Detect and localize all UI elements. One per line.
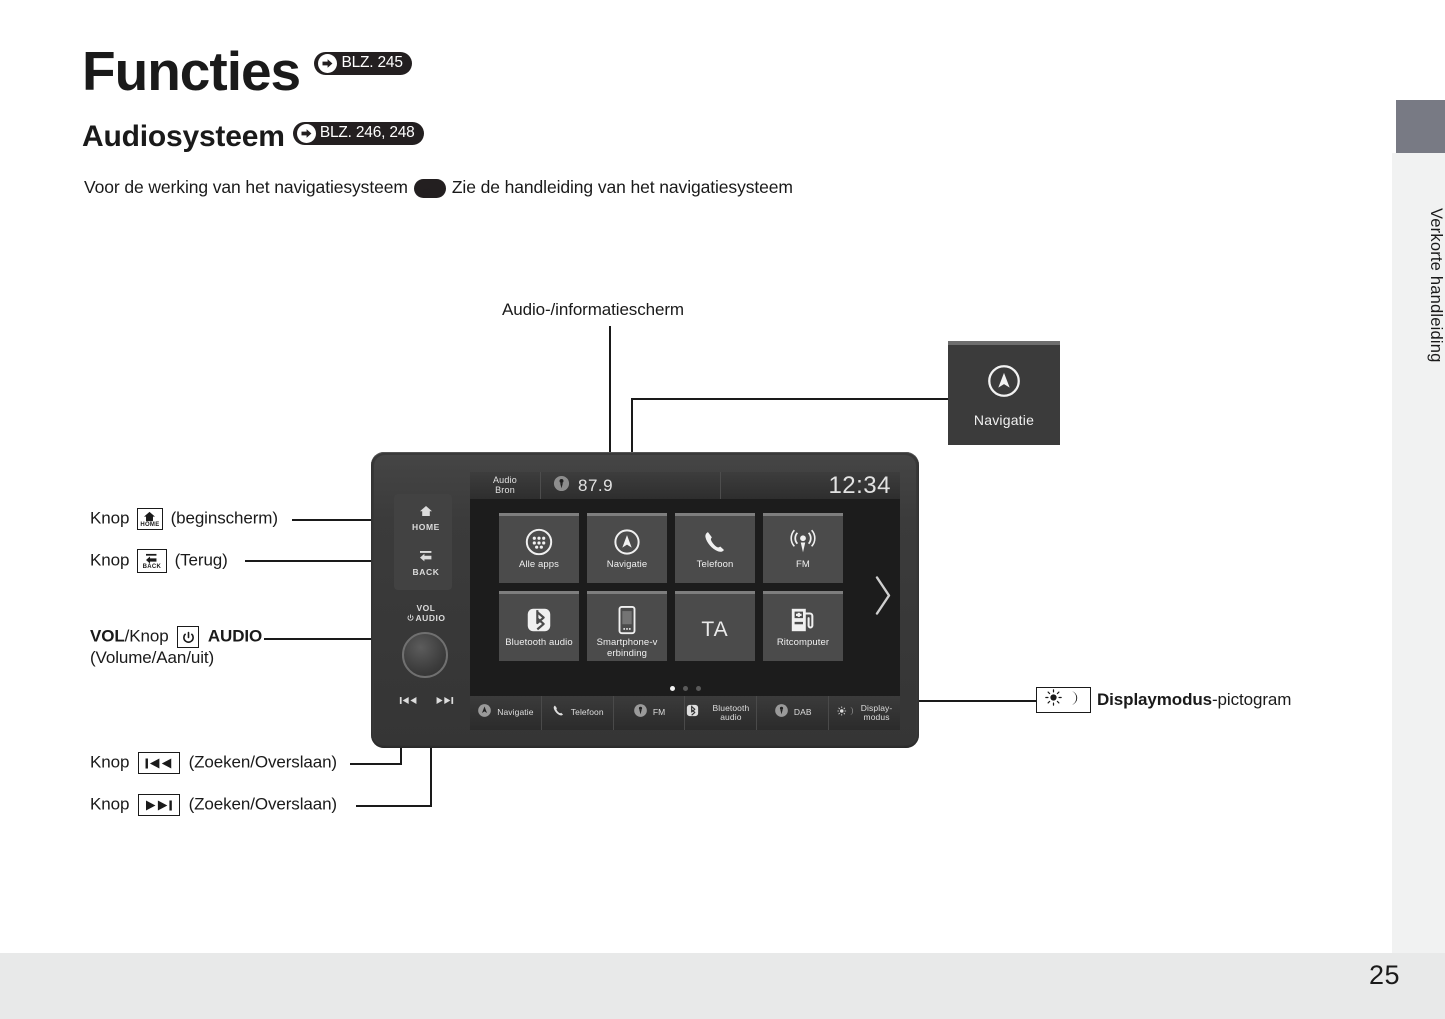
callout-next-suffix: (Zoeken/Overslaan) xyxy=(189,794,337,813)
sun-moon-icon xyxy=(837,704,856,722)
callout-vol-sub: (Volume/Aan/uit) xyxy=(90,648,214,668)
callout-displaymode-bold: Displaymodus xyxy=(1097,690,1212,709)
tile-label: Alle apps xyxy=(517,560,561,571)
phone-handset-icon xyxy=(551,703,566,723)
tile-label: FM xyxy=(794,560,812,571)
bottombar-label: Display- modus xyxy=(861,704,893,723)
home-tile-area: Alle apps Navigatie xyxy=(470,499,900,696)
page-dot-1[interactable] xyxy=(670,686,675,691)
fm-antenna-icon xyxy=(774,703,789,723)
arrow-right-icon xyxy=(318,54,337,73)
tile-label: Bluetooth audio xyxy=(503,638,575,649)
hardware-button-column: HOME BACK VOL xyxy=(390,464,462,736)
callout-vol-bold: VOL xyxy=(90,626,125,645)
bottombar-label: Bluetooth audio xyxy=(705,704,756,723)
bottombar-label: FM xyxy=(653,708,665,717)
page-indicator-dots xyxy=(470,686,900,691)
bottombar-bluetooth-audio[interactable]: Bluetooth audio xyxy=(685,696,757,730)
callout-prev-suffix: (Zoeken/Overslaan) xyxy=(189,752,337,771)
next-page-chevron-icon[interactable] xyxy=(872,571,894,624)
callout-displaymode: Displaymodus-pictogram xyxy=(1097,690,1291,710)
tile-ta[interactable]: TA xyxy=(675,591,755,661)
callout-back-suffix: (Terug) xyxy=(175,550,228,569)
page-dot-3[interactable] xyxy=(696,686,701,691)
frequency-display: 87.9 xyxy=(541,475,613,497)
clock: 12:34 xyxy=(828,472,900,500)
tile-label: Ritcomputer xyxy=(775,638,831,649)
tile-telefoon[interactable]: Telefoon xyxy=(675,513,755,583)
bottombar-displaymodus[interactable]: Display- modus xyxy=(829,696,900,730)
callout-vol-audio: VOL/Knop AUDIO xyxy=(90,626,262,648)
intro-text-before: Voor de werking van het navigatiesysteem xyxy=(84,177,408,198)
skip-next-button[interactable] xyxy=(435,692,454,710)
skip-button-row xyxy=(390,692,462,710)
intro-line: Voor de werking van het navigatiesysteem… xyxy=(84,177,793,198)
bottombar-telefoon[interactable]: Telefoon xyxy=(542,696,614,730)
fm-antenna-icon xyxy=(788,524,818,560)
skip-previous-icon xyxy=(138,752,180,774)
home-key-caption: HOME xyxy=(140,522,159,528)
tile-navigatie[interactable]: Navigatie xyxy=(587,513,667,583)
page-reference-badge[interactable]: BLZ. 245 xyxy=(314,52,411,75)
screen-bottom-bar: Navigatie Telefoon xyxy=(470,696,900,730)
bottombar-label: DAB xyxy=(794,708,812,717)
volume-knob[interactable] xyxy=(402,632,448,678)
callout-audio-bold: AUDIO xyxy=(208,626,262,645)
arrow-right-icon xyxy=(297,124,316,143)
bottombar-navigatie[interactable]: Navigatie xyxy=(470,696,542,730)
tile-fm[interactable]: FM xyxy=(763,513,843,583)
status-bar: Audio Bron 87.9 xyxy=(470,472,900,499)
navigation-compass-icon xyxy=(612,524,642,560)
navigation-compass-icon xyxy=(985,362,1023,405)
callout-home: Knop HOME (beginscherm) xyxy=(90,508,278,530)
fm-antenna-icon xyxy=(633,703,648,723)
moon-icon xyxy=(1067,690,1082,711)
navigatie-zoom-label: Navigatie xyxy=(974,412,1034,428)
bottombar-label: Telefoon xyxy=(571,708,604,717)
side-tab-block xyxy=(1396,100,1445,153)
callout-next: Knop (Zoeken/Overslaan) xyxy=(90,794,337,816)
app-tile-grid: Alle apps Navigatie xyxy=(499,513,843,661)
back-key-icon: BACK xyxy=(137,549,167,573)
navigatie-zoom-callout[interactable]: Navigatie xyxy=(948,341,1060,445)
smartphone-icon xyxy=(616,602,638,638)
back-icon xyxy=(418,549,434,566)
tile-smartphone-verbinding[interactable]: Smartphone-v erbinding xyxy=(587,591,667,661)
callout-home-suffix: (beginscherm) xyxy=(171,508,278,527)
bottombar-fm[interactable]: FM xyxy=(614,696,686,730)
home-icon xyxy=(419,504,433,521)
volume-knob-caption-line2: AUDIO xyxy=(416,614,446,624)
fuel-pump-icon xyxy=(789,602,817,638)
bluetooth-icon xyxy=(524,602,554,638)
home-key-icon: HOME xyxy=(137,508,163,530)
leader-line-prev xyxy=(350,763,402,765)
power-key-icon xyxy=(177,626,199,648)
intro-text-after: Zie de handleiding van het navigatiesyst… xyxy=(452,177,793,198)
volume-knob-caption: VOL AUDIO xyxy=(390,604,462,625)
section-reference-badge[interactable]: BLZ. 246, 248 xyxy=(293,122,424,145)
home-button[interactable]: HOME xyxy=(390,504,462,532)
fm-antenna-icon xyxy=(553,475,570,497)
tile-ritcomputer[interactable]: Ritcomputer xyxy=(763,591,843,661)
leader-line-navzoom xyxy=(631,398,949,400)
section-reference-text: BLZ. 246, 248 xyxy=(320,125,415,142)
page-title-text: Functies xyxy=(82,40,300,102)
see-reference-badge[interactable] xyxy=(414,179,446,198)
callout-back-prefix: Knop xyxy=(90,550,129,569)
section-title: Audiosysteem BLZ. 246, 248 xyxy=(82,122,424,152)
page-title: Functies BLZ. 245 xyxy=(82,44,412,99)
home-button-label: HOME xyxy=(390,523,462,532)
sun-icon xyxy=(1045,689,1062,711)
skip-next-icon xyxy=(138,794,180,816)
callout-screen-label: Audio-/informatiescherm xyxy=(502,300,684,320)
tile-label: TA xyxy=(701,618,728,642)
page-dot-2[interactable] xyxy=(683,686,688,691)
frequency-value: 87.9 xyxy=(578,476,613,496)
bottombar-label: Navigatie xyxy=(497,708,533,717)
tile-label: Smartphone-v erbinding xyxy=(587,638,667,659)
page-reference-text: BLZ. 245 xyxy=(341,55,402,72)
tile-label: Navigatie xyxy=(605,560,650,571)
callout-displaymode-rest: -pictogram xyxy=(1212,690,1291,709)
tile-label: Telefoon xyxy=(695,560,736,571)
bottombar-label-line2: modus xyxy=(864,712,890,722)
audio-information-screen[interactable]: Audio Bron 87.9 xyxy=(470,472,900,730)
power-icon xyxy=(407,614,414,625)
tile-alle-apps[interactable]: Alle apps xyxy=(499,513,579,583)
audio-source-line2: Bron xyxy=(470,486,540,495)
tile-bluetooth-audio[interactable]: Bluetooth audio xyxy=(499,591,579,661)
callout-vol-mid: /Knop xyxy=(125,626,169,645)
apps-grid-icon xyxy=(524,524,554,560)
back-key-caption: BACK xyxy=(143,564,162,570)
status-divider-2 xyxy=(720,472,721,499)
back-button[interactable]: BACK xyxy=(390,549,462,577)
arrow-right-icon xyxy=(422,181,437,196)
callout-back: Knop BACK (Terug) xyxy=(90,549,228,573)
footer-band xyxy=(0,953,1445,1019)
phone-handset-icon xyxy=(700,524,730,560)
head-unit: HOME BACK VOL xyxy=(371,452,919,748)
displaymode-icon-box xyxy=(1036,687,1091,713)
page-number: 25 xyxy=(1369,960,1400,991)
callout-prev: Knop (Zoeken/Overslaan) xyxy=(90,752,337,774)
callout-prev-prefix: Knop xyxy=(90,752,129,771)
leader-line-next xyxy=(356,805,432,807)
side-tab-label: Verkorte handleiding xyxy=(1392,153,1445,413)
callout-home-prefix: Knop xyxy=(90,508,129,527)
bluetooth-icon xyxy=(685,703,700,723)
back-button-label: BACK xyxy=(390,568,462,577)
bottombar-dab[interactable]: DAB xyxy=(757,696,829,730)
section-title-text: Audiosysteem xyxy=(82,120,285,153)
callout-next-prefix: Knop xyxy=(90,794,129,813)
skip-previous-button[interactable] xyxy=(399,692,418,710)
navigation-compass-icon xyxy=(477,703,492,723)
audio-source-label[interactable]: Audio Bron xyxy=(470,476,540,495)
